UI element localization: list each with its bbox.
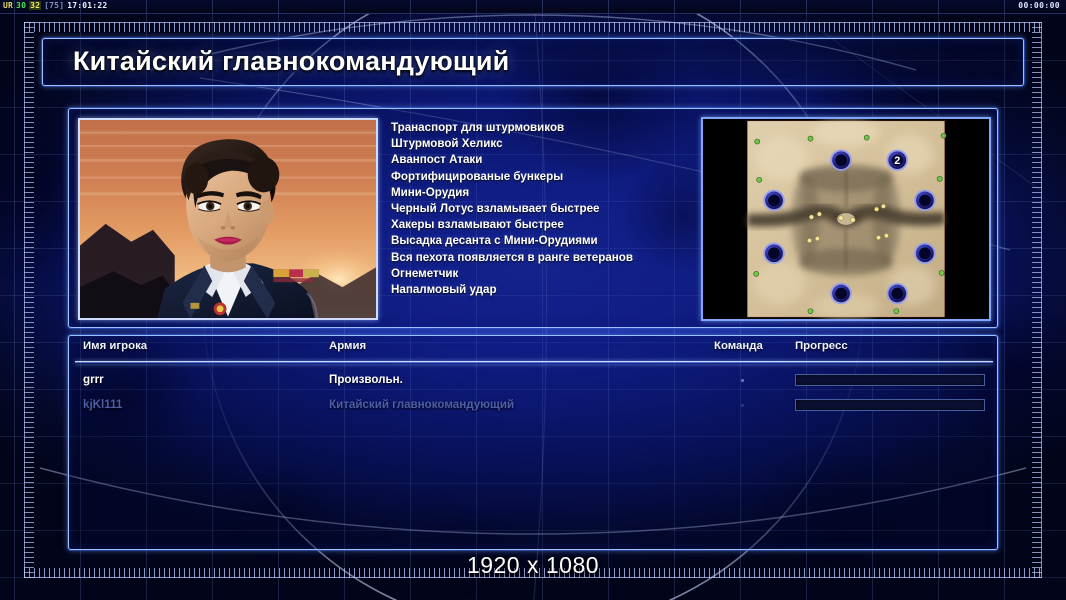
status-value-a: 30 <box>16 1 26 10</box>
top-status-bar: UR 30 32 [75] 17:01:22 00:00:00 <box>0 0 1066 14</box>
ability-item: Высадка десанта с Мини-Орудиями <box>391 233 691 249</box>
ability-item: Транаспорт для штурмовиков <box>391 120 691 136</box>
ability-item: Аванпост Атаки <box>391 152 691 168</box>
title-panel: Китайский главнокомандующий <box>42 38 1024 86</box>
skirmish-lobby-screen: UR 30 32 [75] 17:01:22 00:00:00 Китайски… <box>0 0 1066 600</box>
resolution-caption: 1920 x 1080 <box>0 552 1066 579</box>
match-timer: 00:00:00 <box>1018 1 1060 10</box>
svg-text:2: 2 <box>894 155 900 167</box>
map-preview[interactable]: 2 <box>701 117 991 321</box>
ability-item: Вся пехота появляется в ранге ветеранов <box>391 250 691 266</box>
header-divider <box>75 361 993 364</box>
ability-item: Напалмовый удар <box>391 282 691 298</box>
frame-ruler-top <box>24 22 1042 32</box>
ability-item: Хакеры взламывают быстрее <box>391 217 691 233</box>
ability-item: Штурмовой Хеликс <box>391 136 691 152</box>
status-bracket: [75] <box>44 1 64 10</box>
player-progress-bar <box>795 374 985 386</box>
column-header-team: Команда <box>714 340 784 352</box>
table-row[interactable]: grrr Произвольн. <box>69 368 997 392</box>
player-progress-bar <box>795 399 985 411</box>
network-status-readout: UR 30 32 [75] 17:01:22 <box>3 1 107 10</box>
table-row[interactable]: kjKl111 Китайский главнокомандующий <box>69 393 997 417</box>
status-bar-grid <box>0 0 1066 13</box>
player-list-panel: Имя игрока Армия Команда Прогресс grrr П… <box>68 335 998 550</box>
ability-item: Черный Лотус взламывает быстрее <box>391 201 691 217</box>
player-name-cell: kjKl111 <box>83 393 122 417</box>
status-value-b: 32 <box>29 1 41 10</box>
player-name-cell: grrr <box>83 368 104 392</box>
team-indicator-dot <box>741 404 744 407</box>
player-army-cell[interactable]: Произвольн. <box>329 368 403 392</box>
column-header-player-name: Имя игрока <box>83 340 147 352</box>
status-clock: 17:01:22 <box>67 1 107 10</box>
team-indicator-dot <box>741 379 744 382</box>
chinese-general-portrait <box>78 118 378 320</box>
status-prefix: UR <box>3 1 13 10</box>
ability-item: Мини-Орудия <box>391 185 691 201</box>
ability-item: Огнеметчик <box>391 266 691 282</box>
column-header-progress: Прогресс <box>795 340 848 352</box>
player-list-header: Имя игрока Армия Команда Прогресс <box>69 340 997 362</box>
page-title: Китайский главнокомандующий <box>73 46 509 77</box>
column-header-army: Армия <box>329 340 366 352</box>
general-abilities-list: Транаспорт для штурмовиков Штурмовой Хел… <box>391 120 691 298</box>
player-army-cell[interactable]: Китайский главнокомандующий <box>329 393 514 417</box>
general-info-panel: Транаспорт для штурмовиков Штурмовой Хел… <box>68 108 998 328</box>
frame-ruler-right <box>1032 22 1042 578</box>
frame-ruler-left <box>24 22 34 578</box>
ability-item: Фортифицированые бункеры <box>391 169 691 185</box>
